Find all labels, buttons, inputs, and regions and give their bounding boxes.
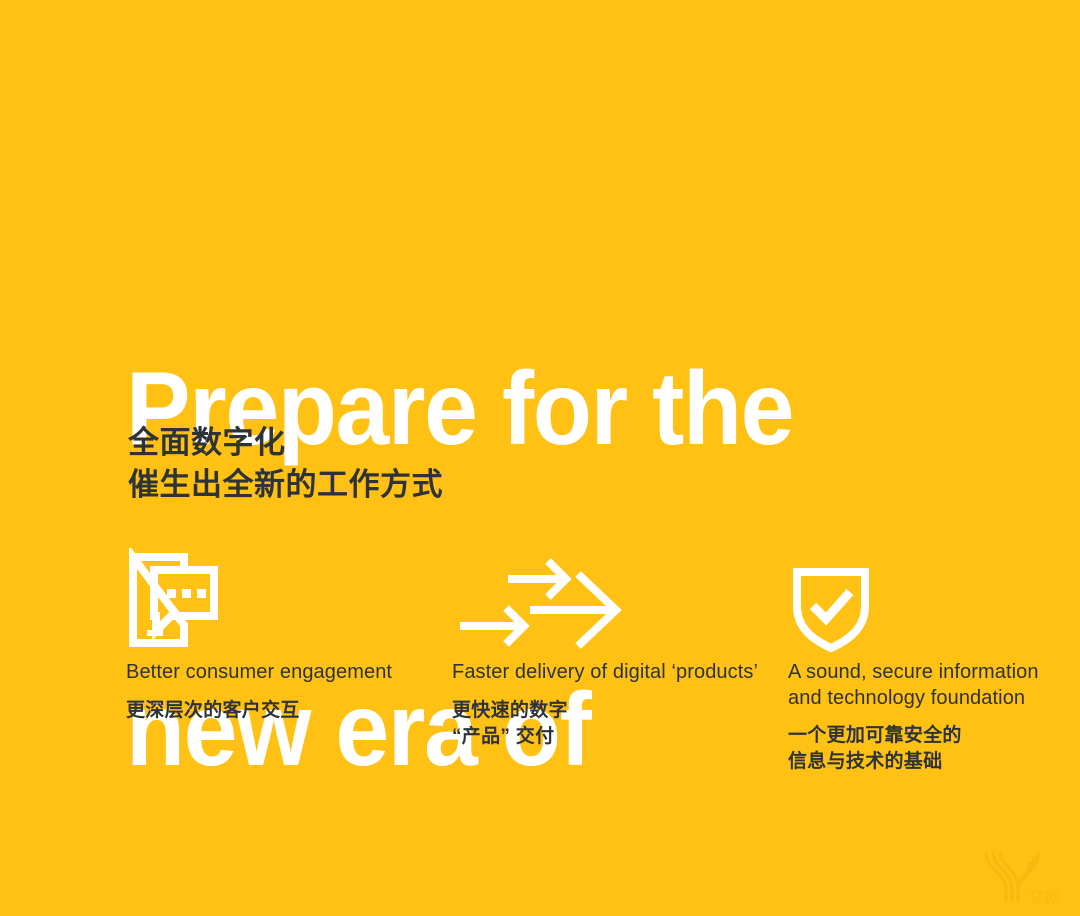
feature-caption-zh-line: “产品” 交付 xyxy=(452,724,762,750)
feature-caption-en: A sound, secure information and technolo… xyxy=(788,660,1048,711)
feature-caption-zh-line: 更快速的数字 xyxy=(452,698,762,724)
watermark-text: 亿欧 xyxy=(1030,889,1060,906)
feature-caption-zh: 更深层次的客户交互 xyxy=(126,698,426,724)
fast-arrows-icon xyxy=(452,548,762,660)
feature-caption-zh-line: 更深层次的客户交互 xyxy=(126,698,426,724)
feature-caption-zh-line: 信息与技术的基础 xyxy=(788,749,1048,775)
feature-caption-zh: 一个更加可靠安全的 信息与技术的基础 xyxy=(788,723,1048,775)
feature-column-3: A sound, secure information and technolo… xyxy=(788,548,1048,775)
subtitle-line-1: 全面数字化 xyxy=(128,422,443,464)
feature-caption-zh-line: 一个更加可靠安全的 xyxy=(788,723,1048,749)
feature-columns: Better consumer engagement 更深层次的客户交互 xyxy=(0,548,1080,878)
shield-check-icon xyxy=(788,548,1048,660)
mobile-chat-icon xyxy=(126,548,426,660)
slide-canvas: Prepare for the new era of enterprise IT… xyxy=(0,0,1080,916)
feature-column-1: Better consumer engagement 更深层次的客户交互 xyxy=(126,548,426,724)
feature-caption-en: Faster delivery of digital ‘products’ xyxy=(452,660,762,686)
subtitle: 全面数字化 催生出全新的工作方式 xyxy=(128,422,443,506)
feature-caption-zh: 更快速的数字 “产品” 交付 xyxy=(452,698,762,750)
feature-column-2: Faster delivery of digital ‘products’ 更快… xyxy=(452,548,762,750)
feature-caption-en: Better consumer engagement xyxy=(126,660,426,686)
subtitle-line-2: 催生出全新的工作方式 xyxy=(128,464,443,506)
